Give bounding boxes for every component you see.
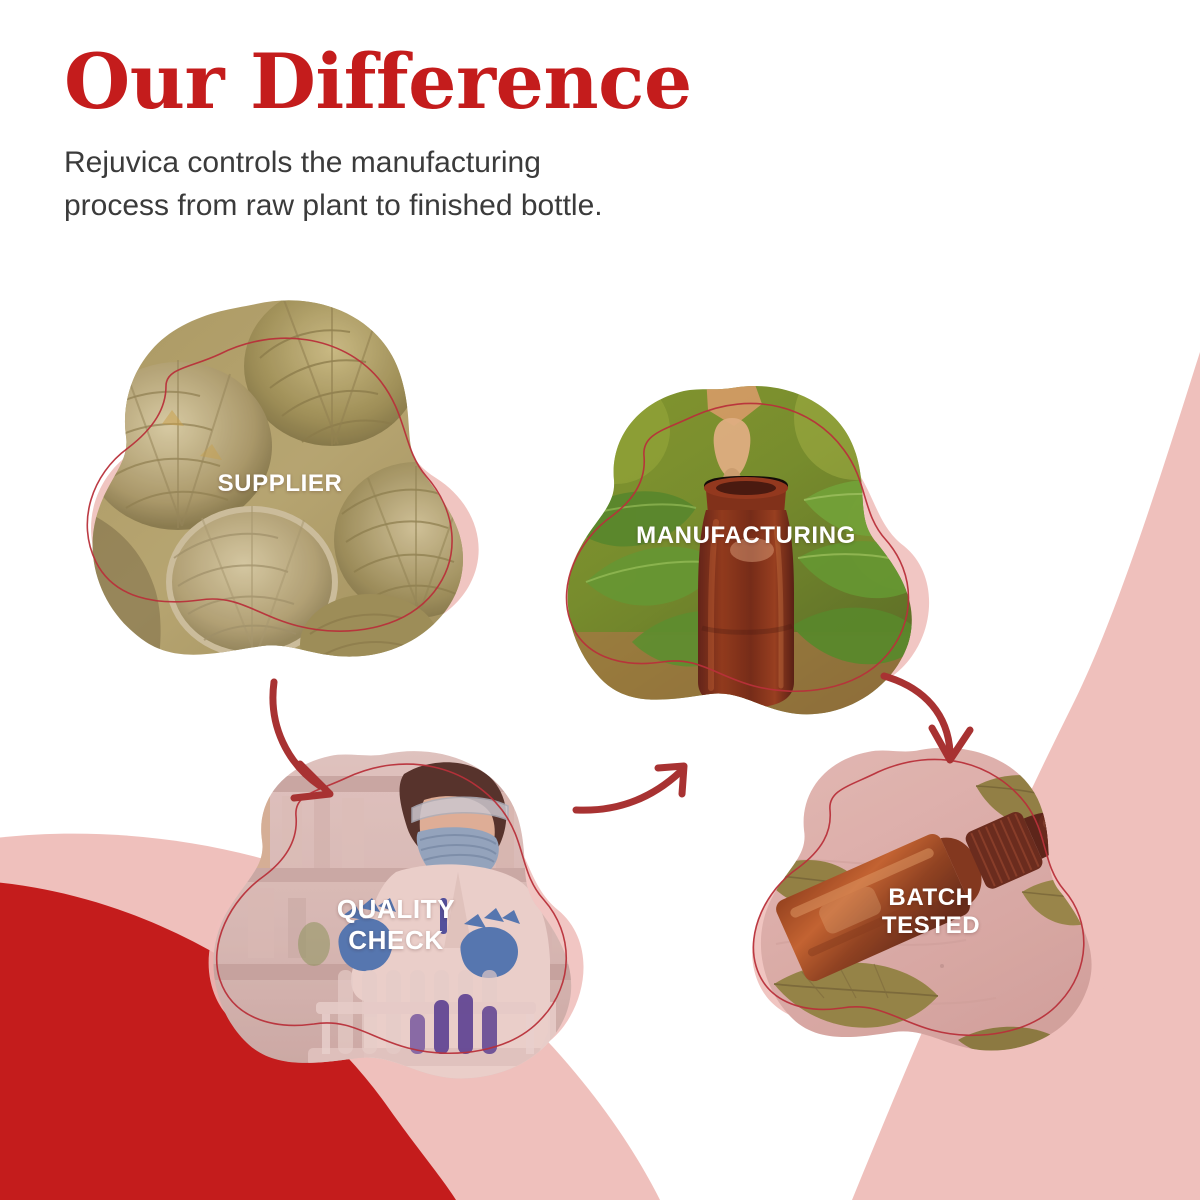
- batch-blob: [746, 744, 1116, 1064]
- flow-step-quality[interactable]: QUALITY CHECK: [196, 748, 596, 1090]
- header: Our Difference Rejuvica controls the man…: [64, 44, 864, 227]
- batch-photo: [746, 744, 1116, 1064]
- manufacturing-blob: [556, 382, 936, 734]
- quality-blob: [196, 748, 596, 1090]
- supplier-blob: [70, 296, 490, 664]
- flow-step-manufacturing[interactable]: MANUFACTURING: [556, 382, 936, 734]
- page-title: Our Difference: [64, 44, 864, 120]
- flow-step-supplier[interactable]: SUPPLIER: [70, 296, 490, 664]
- quality-photo: [196, 748, 596, 1090]
- supplier-photo: [70, 286, 498, 694]
- flow-step-batch[interactable]: BATCH TESTED: [746, 744, 1116, 1064]
- infographic-canvas: Our Difference Rejuvica controls the man…: [0, 0, 1200, 1200]
- page-subtitle: Rejuvica controls the manufacturing proc…: [64, 142, 764, 227]
